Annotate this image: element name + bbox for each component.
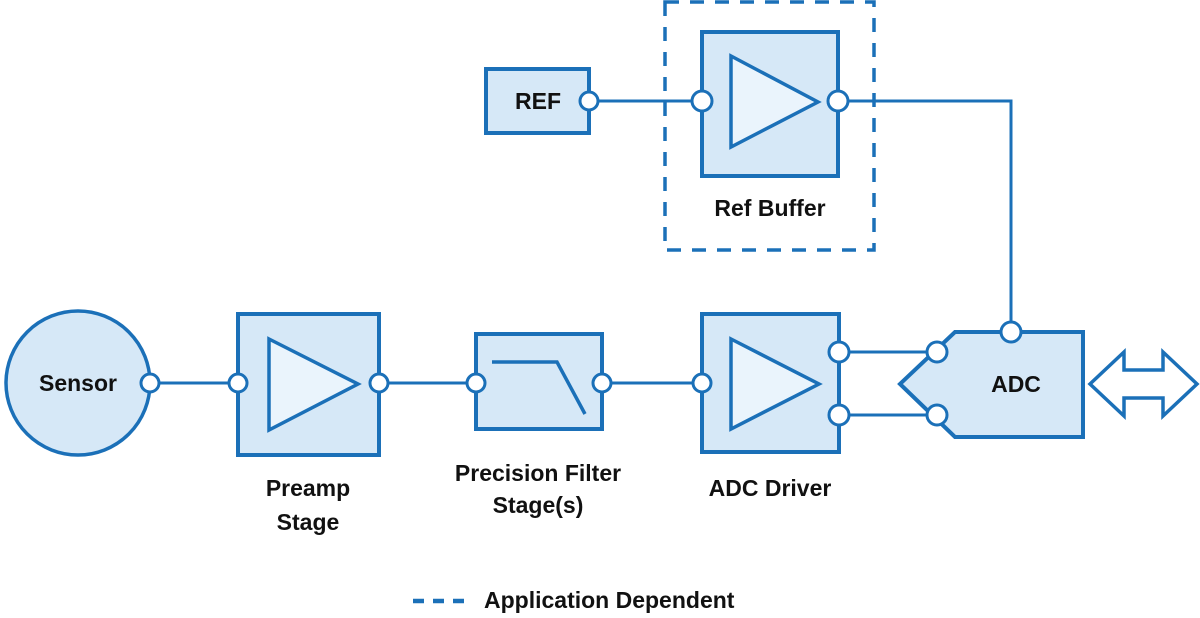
filter-caption-line-1: Precision Filter xyxy=(455,460,621,486)
double-headed-arrow-icon xyxy=(1090,352,1197,416)
signal-chain-diagram: Sensor Preamp Stage Precision Filter Sta… xyxy=(0,0,1200,618)
filter-caption: Precision Filter Stage(s) xyxy=(455,460,621,518)
pin-ref-out xyxy=(580,92,598,110)
wire-ref-buffer-to-adc xyxy=(838,101,1011,332)
preamp-caption-line-2: Stage xyxy=(277,509,340,535)
ref-buffer-block[interactable] xyxy=(702,32,838,176)
pin-adc-ref-in xyxy=(1001,322,1021,342)
filter-caption-line-2: Stage(s) xyxy=(493,492,584,518)
adc-driver-block[interactable] xyxy=(702,314,839,452)
pin-ref-buffer-in xyxy=(692,91,712,111)
preamp-caption-line-1: Preamp xyxy=(266,475,350,501)
ref-buffer-caption-line-1: Ref Buffer xyxy=(714,195,825,221)
filter-block[interactable] xyxy=(476,334,602,429)
pin-preamp-in xyxy=(229,374,247,392)
pin-filter-in xyxy=(467,374,485,392)
ref-buffer-caption: Ref Buffer xyxy=(714,195,825,221)
pin-adc-in-n xyxy=(927,405,947,425)
legend: Application Dependent xyxy=(413,587,735,613)
pin-sensor-out xyxy=(141,374,159,392)
adc-driver-caption: ADC Driver xyxy=(709,475,832,501)
preamp-caption: Preamp Stage xyxy=(266,475,350,535)
pin-ref-buffer-out xyxy=(828,91,848,111)
sensor-block[interactable]: Sensor xyxy=(6,311,150,455)
pin-filter-out xyxy=(593,374,611,392)
pin-adc-in-p xyxy=(927,342,947,362)
ref-block[interactable]: REF xyxy=(486,69,589,133)
filter-box xyxy=(476,334,602,429)
legend-label-application-dependent: Application Dependent xyxy=(484,587,735,613)
diagram-canvas: Sensor Preamp Stage Precision Filter Sta… xyxy=(0,0,1200,618)
sensor-label: Sensor xyxy=(39,370,117,396)
pin-adc-driver-in xyxy=(693,374,711,392)
pin-preamp-out xyxy=(370,374,388,392)
ref-label: REF xyxy=(515,88,561,114)
adc-label: ADC xyxy=(991,371,1041,397)
preamp-block[interactable] xyxy=(238,314,379,455)
adc-driver-caption-line-1: ADC Driver xyxy=(709,475,832,501)
pin-adc-driver-out-p xyxy=(829,342,849,362)
pin-adc-driver-out-n xyxy=(829,405,849,425)
